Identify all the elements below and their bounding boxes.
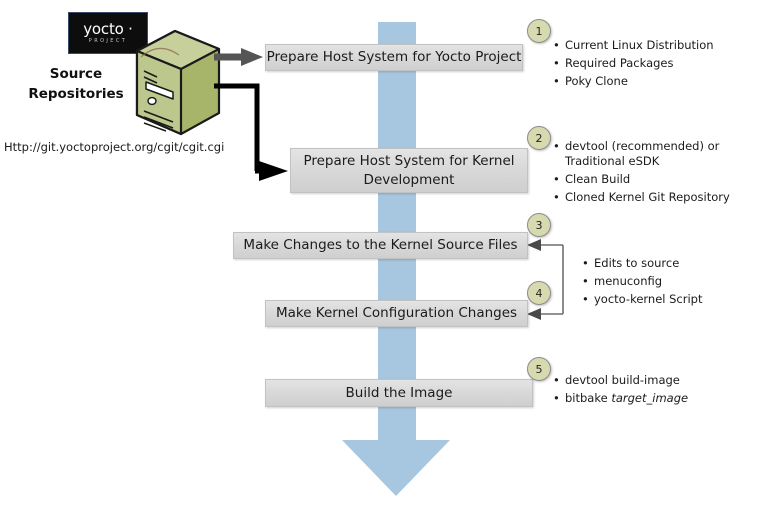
connector-notes-to-step3-step4 (527, 239, 563, 320)
step-number-3: 3 (527, 213, 551, 237)
note-item: bitbake target_image (553, 391, 753, 406)
process-box-step-5[interactable]: Build the Image (265, 379, 533, 407)
step-number-5: 5 (527, 357, 551, 381)
process-box-step-1[interactable]: Prepare Host System for Yocto Project (265, 44, 523, 71)
process-box-step-3-label: Make Changes to the Kernel Source Files (243, 236, 517, 255)
source-repositories-url: Http://git.yoctoproject.org/cgit/cgit.cg… (4, 140, 224, 154)
notes-step-3-and-4: Edits to source menuconfig yocto-kernel … (582, 256, 762, 310)
note-item: devtool build-image (553, 373, 753, 388)
process-box-step-5-label: Build the Image (346, 384, 453, 403)
connector-server-to-step2 (214, 86, 288, 181)
note-item: Required Packages (553, 56, 763, 71)
notes-step-5: devtool build-image bitbake target_image (553, 373, 753, 409)
note-item: menuconfig (582, 274, 762, 289)
note-item: Poky Clone (553, 74, 763, 89)
process-box-step-2[interactable]: Prepare Host System for Kernel Developme… (290, 148, 528, 193)
process-box-step-1-label: Prepare Host System for Yocto Project (267, 48, 522, 67)
note-text-italic: target_image (611, 391, 688, 405)
process-box-step-2-line1: Prepare Host System for Kernel (303, 153, 514, 169)
source-label-line2: Repositories (14, 84, 138, 104)
source-repositories-label: Source Repositories (14, 64, 138, 104)
note-text: bitbake (565, 391, 611, 405)
main-flow-arrow-head (342, 440, 450, 496)
note-item: yocto-kernel Script (582, 292, 762, 307)
source-label-line1: Source (14, 64, 138, 84)
notes-step-2: devtool (recommended) or Traditional eSD… (553, 139, 765, 208)
step-number-1: 1 (527, 19, 551, 43)
note-item: Cloned Kernel Git Repository (553, 190, 765, 205)
note-item: Clean Build (553, 172, 765, 187)
note-item: Current Linux Distribution (553, 38, 763, 53)
process-box-step-4[interactable]: Make Kernel Configuration Changes (265, 300, 528, 327)
diagram-canvas: yocto · PROJECT Source Repositories Http… (0, 0, 769, 517)
process-box-step-3[interactable]: Make Changes to the Kernel Source Files (233, 232, 528, 259)
note-text: devtool build-image (565, 373, 680, 387)
process-box-step-2-line2: Development (364, 172, 455, 188)
step-number-4: 4 (527, 281, 551, 305)
note-item: devtool (recommended) or Traditional eSD… (553, 139, 765, 169)
note-item: Edits to source (582, 256, 762, 271)
step-number-2: 2 (527, 126, 551, 150)
process-box-step-4-label: Make Kernel Configuration Changes (276, 304, 517, 323)
notes-step-1: Current Linux Distribution Required Pack… (553, 38, 763, 92)
process-box-step-2-label: Prepare Host System for Kernel Developme… (303, 152, 514, 190)
server-icon (133, 27, 223, 139)
